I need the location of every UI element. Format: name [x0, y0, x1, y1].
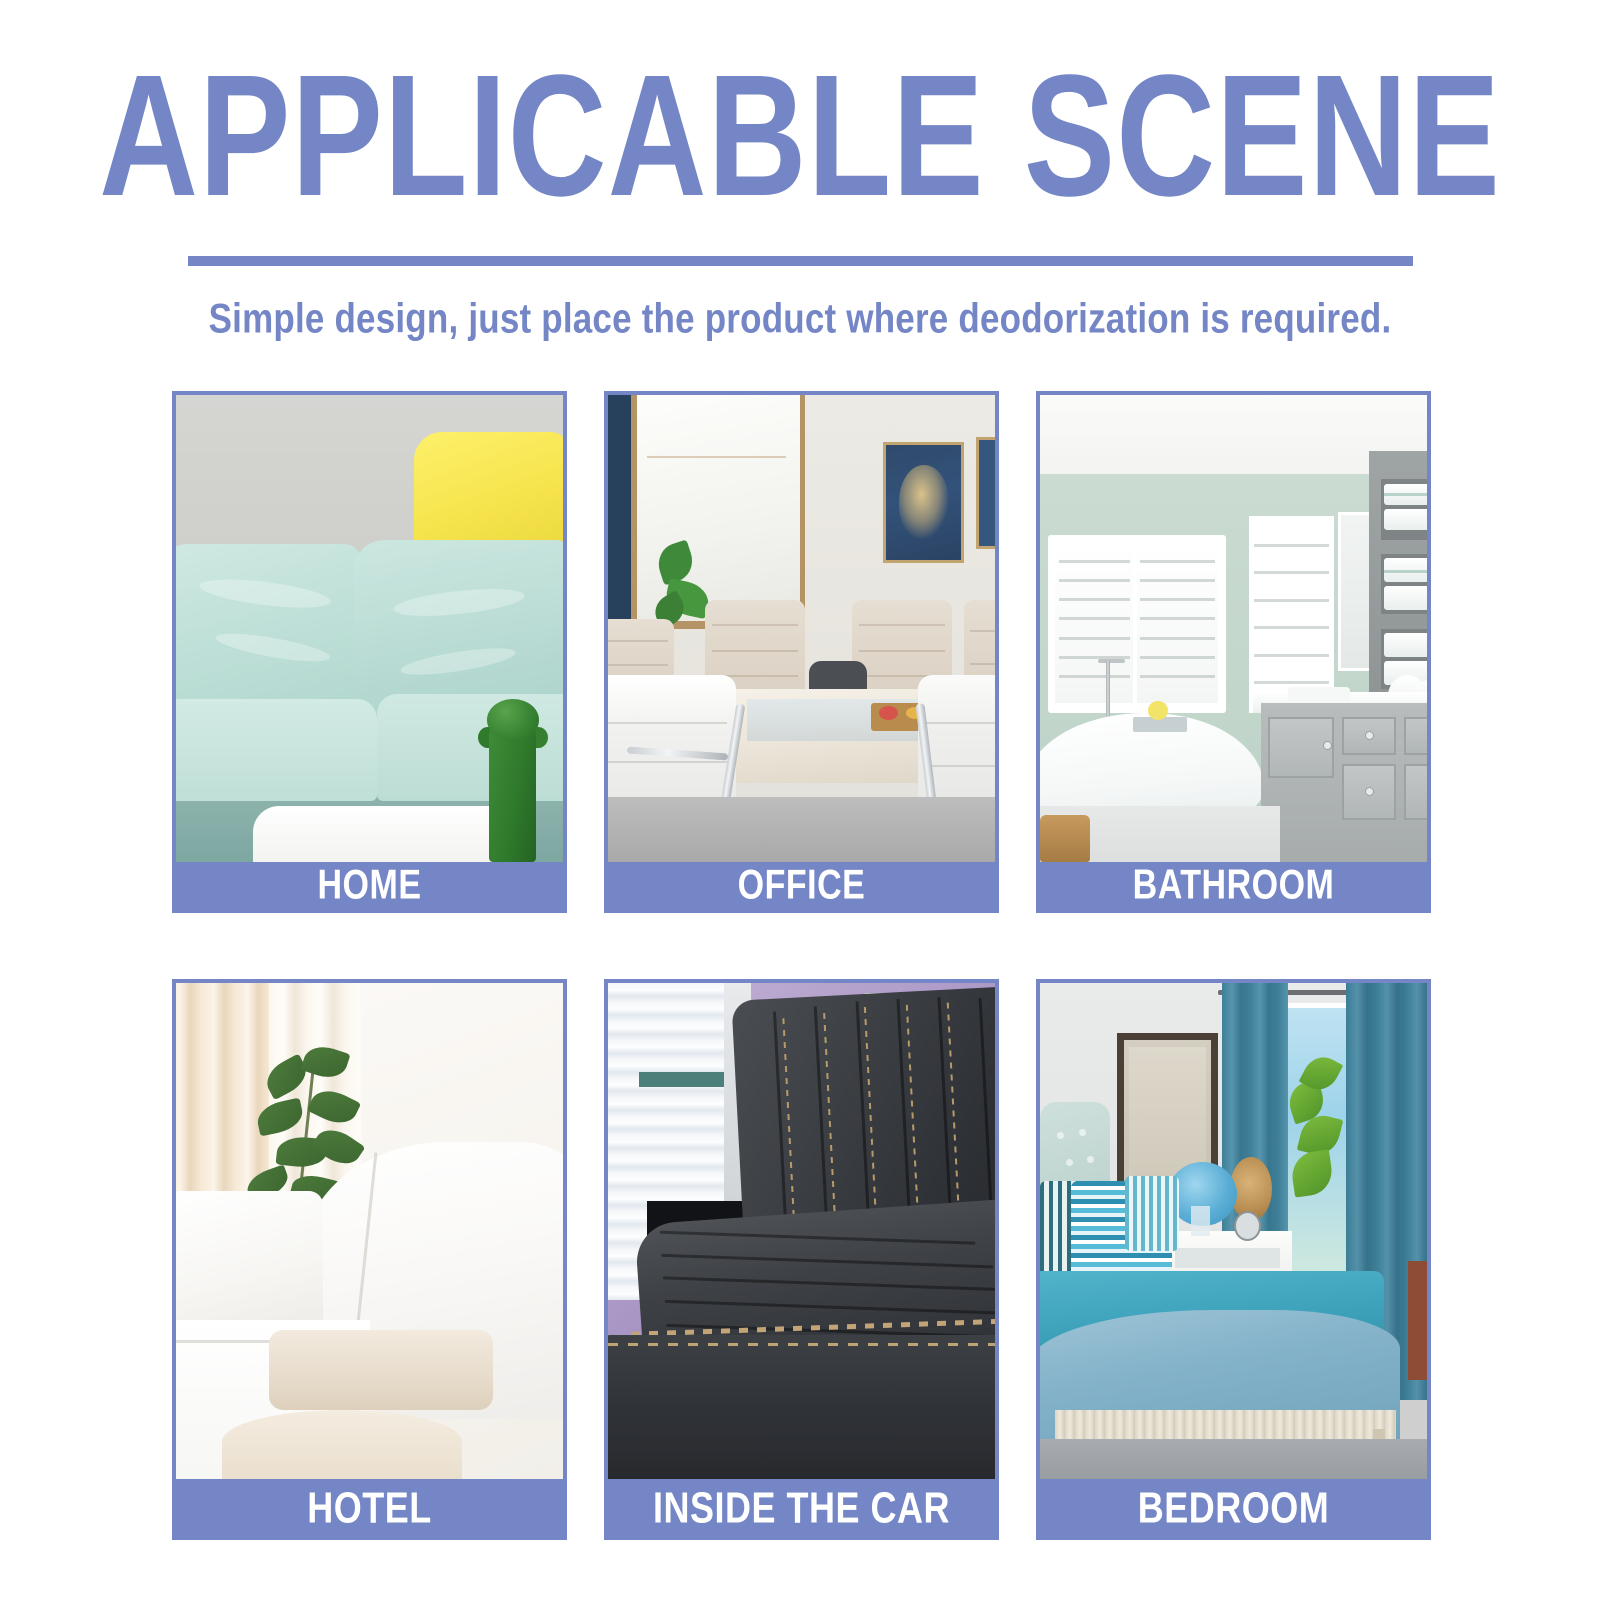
page-subtitle: Simple design, just place the product wh… — [0, 296, 1600, 343]
yellow-flower — [1148, 701, 1167, 720]
caption-label-office: OFFICE — [738, 862, 866, 910]
chair-rib — [970, 630, 995, 632]
title-underline-rule — [188, 256, 1413, 266]
chair-rib — [608, 722, 727, 724]
scene-card-bedroom[interactable]: BEDROOM — [1036, 979, 1431, 1540]
scene-card-home[interactable]: HOME — [172, 391, 567, 913]
caption-label-hotel: HOTEL — [307, 1482, 432, 1533]
folded-towel — [1384, 509, 1427, 530]
page-header: APPLICABLE SCENE Simple design, just pla… — [0, 0, 1600, 336]
chair-rib — [608, 640, 668, 642]
table-clock — [1234, 1211, 1261, 1241]
beige-bolster-pillow — [269, 1330, 493, 1409]
office-floor — [608, 797, 995, 862]
scene-card-bathroom[interactable]: BATHROOM — [1036, 391, 1431, 913]
chair-rib — [970, 663, 995, 665]
caption-bar-car: INSIDE THE CAR — [608, 1479, 995, 1536]
vanity-drawer — [1404, 717, 1427, 754]
caption-bar-bedroom: BEDROOM — [1040, 1479, 1427, 1536]
page-title: APPLICABLE SCENE — [0, 52, 1600, 221]
front-seat-bolster — [608, 1335, 995, 1479]
scene-photo-office — [608, 395, 995, 862]
plantation-shutter-right — [1137, 544, 1218, 703]
chair-rib — [859, 650, 946, 652]
tub-faucet-head — [1098, 659, 1125, 663]
scene-photo-bathroom — [1040, 395, 1427, 862]
chair-rib — [712, 650, 799, 652]
front-contrast-stitch — [608, 1343, 995, 1346]
chair-rib — [608, 664, 668, 666]
scene-card-car[interactable]: INSIDE THE CAR — [604, 979, 999, 1540]
scene-card-hotel[interactable]: HOTEL — [172, 979, 567, 1540]
scene-photo-home — [176, 395, 563, 862]
framed-artwork-left — [883, 442, 964, 563]
artwork-leaf-motif — [899, 465, 949, 539]
cactus-ornament-head — [487, 699, 539, 741]
food-item — [879, 706, 898, 720]
chair-rib — [712, 624, 799, 626]
folded-towel — [1384, 586, 1427, 609]
white-cushion — [176, 1191, 323, 1340]
scene-photo-hotel — [176, 983, 563, 1479]
wooden-chair — [1408, 1261, 1427, 1380]
wall-mirror — [637, 395, 800, 621]
scene-grid: HOME — [172, 391, 1428, 1540]
wicker-basket — [1040, 815, 1090, 862]
caption-bar-bathroom: BATHROOM — [1040, 862, 1427, 909]
scene-card-office[interactable]: OFFICE — [604, 391, 999, 913]
plantation-shutter-left — [1055, 544, 1132, 703]
scene-photo-bedroom — [1040, 983, 1427, 1479]
caption-label-car: INSIDE THE CAR — [653, 1482, 950, 1533]
caption-bar-hotel: HOTEL — [176, 1479, 563, 1536]
caption-bar-home: HOME — [176, 862, 563, 909]
vanity-drawer — [1404, 764, 1427, 820]
glass-vase — [1191, 1206, 1210, 1236]
chair-rib — [925, 765, 995, 767]
nightstand-shelf — [1175, 1248, 1279, 1268]
scene-photo-car — [608, 983, 995, 1479]
chair-rib — [925, 722, 995, 724]
small-accent-pillow — [1125, 1176, 1179, 1250]
framed-artwork-right — [976, 437, 995, 549]
window-band — [639, 1072, 736, 1087]
folded-towel — [1384, 633, 1427, 656]
cactus-ornament-body — [489, 722, 535, 862]
chair-rib — [859, 624, 946, 626]
sofa-foot-cushion — [222, 1410, 462, 1479]
vanity-sink — [1288, 687, 1350, 701]
caption-label-bedroom: BEDROOM — [1138, 1482, 1330, 1533]
mirror-reflection-line — [647, 456, 786, 458]
cabinet-knob[interactable] — [1323, 741, 1332, 750]
caption-bar-office: OFFICE — [608, 862, 995, 909]
bedroom-floor — [1040, 1439, 1427, 1479]
sofa-seat-cushion-left — [176, 699, 377, 802]
caption-label-home: HOME — [318, 862, 422, 910]
white-coffee-table — [253, 806, 524, 862]
side-window-shutter — [1249, 516, 1334, 712]
chair-rib — [608, 761, 727, 763]
caption-label-bathroom: BATHROOM — [1133, 862, 1335, 910]
